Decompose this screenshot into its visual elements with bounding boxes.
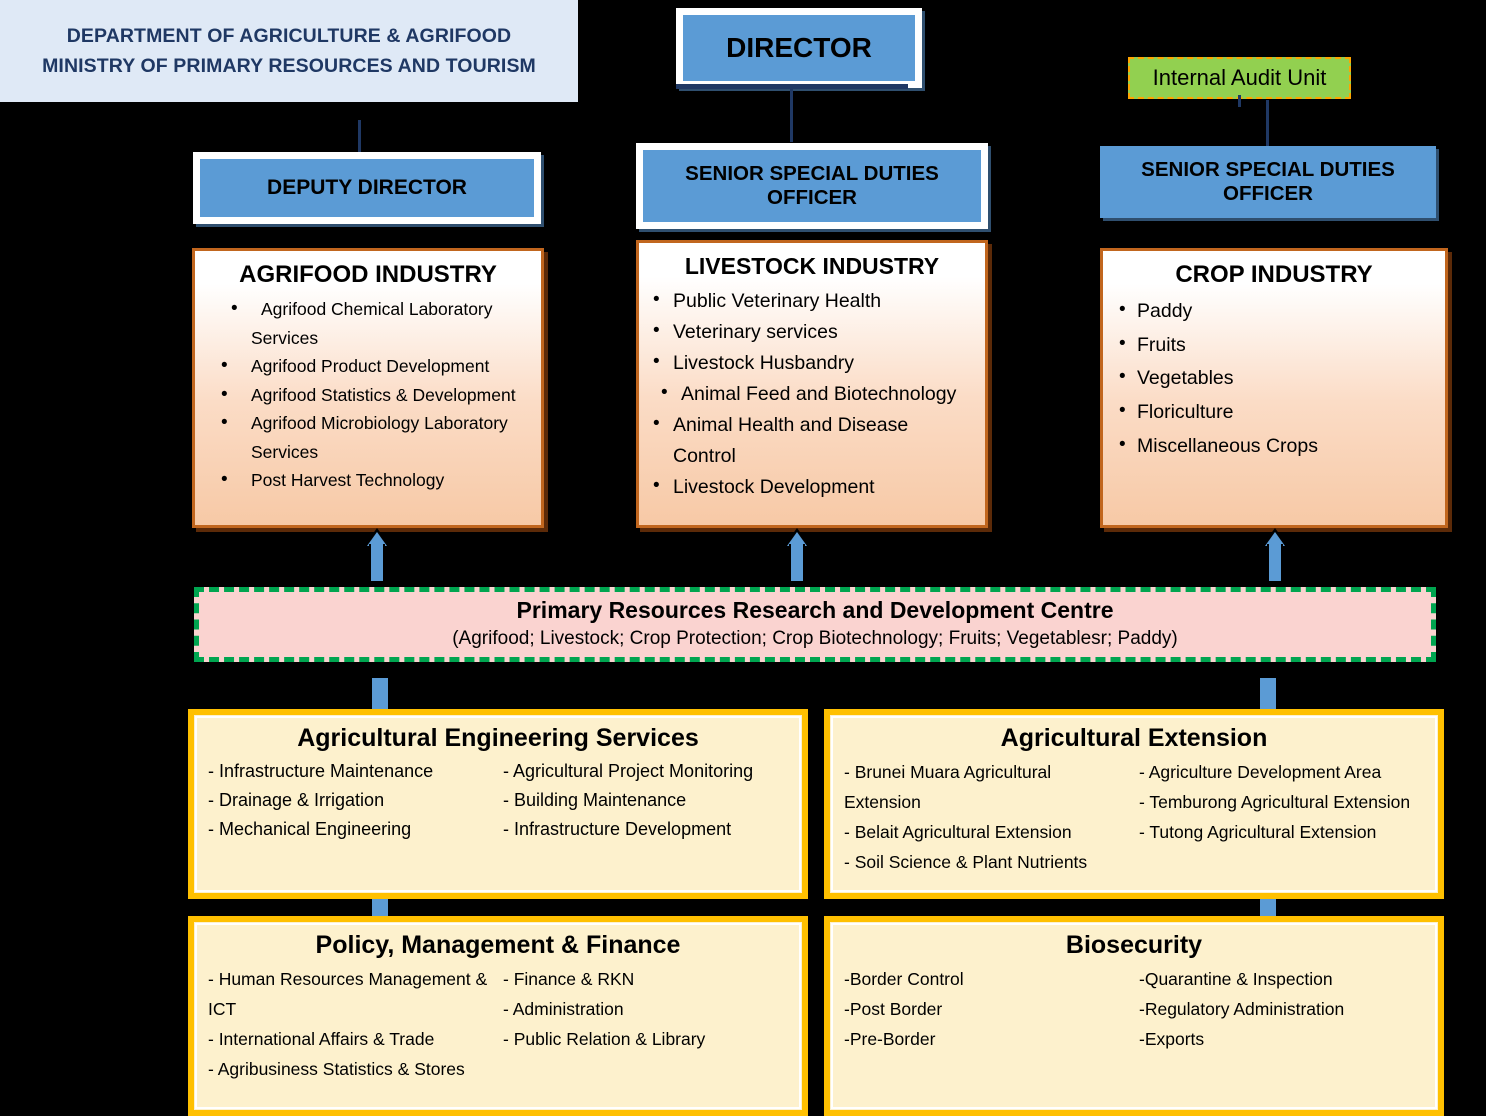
list-item: -Exports [1139, 1024, 1424, 1054]
rnd-centre-title: Primary Resources Research and Developme… [517, 597, 1114, 625]
rnd-centre-subtitle: (Agrifood; Livestock; Crop Protection; C… [452, 626, 1178, 652]
service-column-left: - Infrastructure Maintenance - Drainage … [208, 757, 493, 844]
list-item: - Agricultural Project Monitoring [503, 757, 788, 786]
agrifood-industry-list: Agrifood Chemical Laboratory Services Ag… [203, 295, 533, 495]
arrow-up-crop-icon [1262, 528, 1288, 583]
service-column-right: - Agriculture Development Area - Temburo… [1139, 757, 1424, 877]
list-item: - Human Resources Management & ICT [208, 964, 493, 1024]
ministry-header-line1: DEPARTMENT OF AGRICULTURE & AGRIFOOD [67, 21, 512, 51]
livestock-industry-title: LIVESTOCK INDUSTRY [647, 253, 977, 280]
service-column-left: - Brunei Muara Agricultural Extension - … [844, 757, 1129, 877]
agrifood-industry-title: AGRIFOOD INDUSTRY [203, 261, 533, 289]
agricultural-engineering-services-title: Agricultural Engineering Services [208, 723, 788, 753]
biosecurity-title: Biosecurity [844, 930, 1424, 960]
list-item: Vegetables [1115, 362, 1433, 396]
service-column-right: - Agricultural Project Monitoring - Buil… [503, 757, 788, 844]
list-item: Paddy [1115, 295, 1433, 329]
agricultural-extension-panel: Agricultural Extension - Brunei Muara Ag… [824, 709, 1444, 899]
list-item: Miscellaneous Crops [1115, 430, 1433, 464]
list-item: Livestock Development [651, 472, 973, 503]
connector-rnd-to-agri-ext [1258, 676, 1278, 712]
list-item: Veterinary services [651, 317, 973, 348]
crop-industry-panel: CROP INDUSTRY Paddy Fruits Vegetables Fl… [1100, 248, 1448, 528]
list-item: - Finance & RKN [503, 964, 788, 994]
senior-special-duties-officer-livestock-box[interactable]: SENIOR SPECIAL DUTIES OFFICER [636, 143, 988, 229]
internal-audit-unit-box[interactable]: Internal Audit Unit [1128, 57, 1351, 99]
senior-special-duties-officer-crop-box[interactable]: SENIOR SPECIAL DUTIES OFFICER [1100, 146, 1436, 218]
ssdo-crop-connector-vertical [1266, 100, 1269, 146]
crop-industry-list: Paddy Fruits Vegetables Floriculture Mis… [1111, 295, 1437, 464]
list-item: -Border Control [844, 964, 1129, 994]
list-item: - Tutong Agricultural Extension [1139, 817, 1424, 847]
director-box[interactable]: DIRECTOR [676, 8, 922, 88]
service-column-left: -Border Control -Post Border -Pre-Border [844, 964, 1129, 1054]
list-item: Agrifood Statistics & Development [207, 381, 529, 410]
list-item: Animal Feed and Biotechnology [651, 379, 973, 410]
livestock-industry-panel: LIVESTOCK INDUSTRY Public Veterinary Hea… [636, 240, 988, 528]
list-item: - Drainage & Irrigation [208, 786, 493, 815]
list-item: Floriculture [1115, 396, 1433, 430]
agricultural-engineering-services-columns: - Infrastructure Maintenance - Drainage … [208, 757, 788, 844]
list-item: -Regulatory Administration [1139, 994, 1424, 1024]
list-item: - Belait Agricultural Extension [844, 817, 1129, 847]
list-item: - Temburong Agricultural Extension [1139, 787, 1424, 817]
policy-management-finance-columns: - Human Resources Management & ICT - Int… [208, 964, 788, 1084]
arrow-up-livestock-icon [784, 528, 810, 583]
service-column-right: -Quarantine & Inspection -Regulatory Adm… [1139, 964, 1424, 1054]
list-item: - Brunei Muara Agricultural Extension [844, 757, 1129, 817]
crop-industry-title: CROP INDUSTRY [1111, 261, 1437, 289]
org-chart-canvas: DEPARTMENT OF AGRICULTURE & AGRIFOOD MIN… [0, 0, 1486, 1109]
list-item: Agrifood Microbiology Laboratory Service… [207, 409, 529, 466]
policy-management-finance-title: Policy, Management & Finance [208, 930, 788, 960]
list-item: Agrifood Product Development [207, 352, 529, 381]
ministry-header-line2: MINISTRY OF PRIMARY RESOURCES AND TOURIS… [42, 51, 536, 81]
internal-audit-connector [1238, 95, 1241, 107]
service-column-left: - Human Resources Management & ICT - Int… [208, 964, 493, 1084]
agricultural-extension-columns: - Brunei Muara Agricultural Extension - … [844, 757, 1424, 877]
list-item: Livestock Husbandry [651, 348, 973, 379]
livestock-industry-list: Public Veterinary Health Veterinary serv… [647, 286, 977, 503]
list-item: Agrifood Chemical Laboratory Services [207, 295, 529, 352]
list-item: - Administration [503, 994, 788, 1024]
ministry-header: DEPARTMENT OF AGRICULTURE & AGRIFOOD MIN… [0, 0, 578, 102]
list-item: Fruits [1115, 329, 1433, 363]
service-column-right: - Finance & RKN - Administration - Publi… [503, 964, 788, 1084]
list-item: - Infrastructure Maintenance [208, 757, 493, 786]
deputy-director-box[interactable]: DEPUTY DIRECTOR [193, 152, 541, 224]
list-item: - Agriculture Development Area [1139, 757, 1424, 787]
list-item: - Infrastructure Development [503, 815, 788, 844]
deputy-connector-vertical [358, 120, 361, 152]
list-item: - International Affairs & Trade [208, 1024, 493, 1054]
list-item: - Building Maintenance [503, 786, 788, 815]
list-item: - Mechanical Engineering [208, 815, 493, 844]
policy-management-finance-panel: Policy, Management & Finance - Human Res… [188, 916, 808, 1116]
list-item: - Public Relation & Library [503, 1024, 788, 1054]
director-connector-vertical [790, 84, 793, 142]
agricultural-engineering-services-panel: Agricultural Engineering Services - Infr… [188, 709, 808, 899]
list-item: -Quarantine & Inspection [1139, 964, 1424, 994]
primary-resources-rnd-centre-box[interactable]: Primary Resources Research and Developme… [194, 587, 1436, 662]
list-item: Animal Health and Disease Control [651, 410, 973, 472]
agrifood-industry-panel: AGRIFOOD INDUSTRY Agrifood Chemical Labo… [192, 248, 544, 528]
list-item: Public Veterinary Health [651, 286, 973, 317]
biosecurity-columns: -Border Control -Post Border -Pre-Border… [844, 964, 1424, 1054]
list-item: -Pre-Border [844, 1024, 1129, 1054]
list-item: - Soil Science & Plant Nutrients [844, 847, 1129, 877]
biosecurity-panel: Biosecurity -Border Control -Post Border… [824, 916, 1444, 1116]
list-item: -Post Border [844, 994, 1129, 1024]
agricultural-extension-title: Agricultural Extension [844, 723, 1424, 753]
list-item: Post Harvest Technology [207, 466, 529, 495]
connector-rnd-to-agri-eng [370, 676, 390, 712]
list-item: - Agribusiness Statistics & Stores [208, 1054, 493, 1084]
arrow-up-agrifood-icon [364, 528, 390, 583]
